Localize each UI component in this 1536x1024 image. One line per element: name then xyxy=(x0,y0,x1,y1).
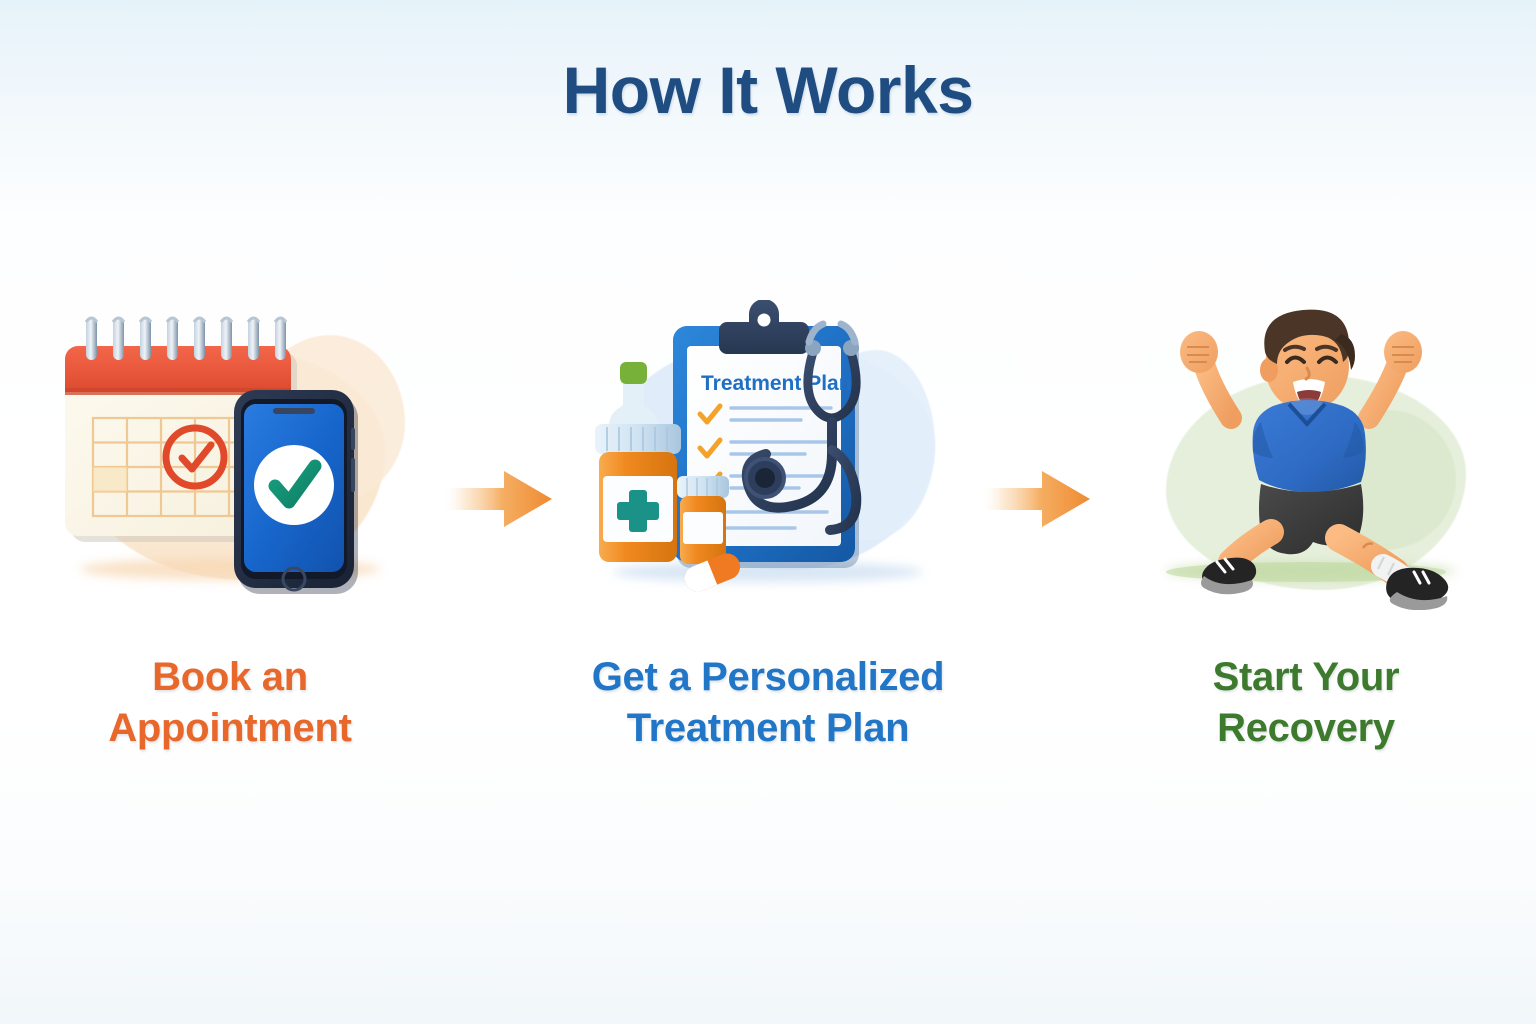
confirmation-check-icon xyxy=(254,445,334,525)
calendar-and-phone-illustration xyxy=(35,300,425,610)
fist-left xyxy=(1180,331,1218,373)
step-1-book-appointment[interactable]: Book an Appointment xyxy=(20,300,440,754)
shirt xyxy=(1253,398,1366,492)
page-title: How It Works xyxy=(0,52,1536,128)
step-1-label: Book an Appointment xyxy=(45,652,415,754)
clipboard-heading: Treatment Plan xyxy=(701,372,852,395)
pill-bottle-primary xyxy=(595,424,681,562)
step-3-start-recovery[interactable]: Start Your Recovery xyxy=(1096,300,1516,754)
clipboard-medicine-stethoscope-illustration: Treatment Plan xyxy=(573,300,963,610)
clipboard-clip-icon xyxy=(719,300,809,354)
step-3-label: Start Your Recovery xyxy=(1121,652,1491,754)
smartphone-confirmation xyxy=(234,390,358,594)
fist-right xyxy=(1384,331,1422,373)
page-header: How It Works xyxy=(0,52,1536,128)
pill-bottle-small xyxy=(677,476,729,564)
arrow-step1-to-step2 xyxy=(442,468,554,530)
arrow-slot-1 xyxy=(440,300,558,610)
arrow-step2-to-step3 xyxy=(980,468,1092,530)
arrow-slot-2 xyxy=(978,300,1096,610)
step-2-treatment-plan[interactable]: Treatment Plan xyxy=(558,300,978,754)
celebrating-runner-illustration xyxy=(1111,300,1501,610)
steps-row: Book an Appointment xyxy=(0,300,1536,780)
shoe-back xyxy=(1201,558,1256,595)
head xyxy=(1260,310,1355,411)
step-2-label: Get a Personalized Treatment Plan xyxy=(583,652,953,754)
